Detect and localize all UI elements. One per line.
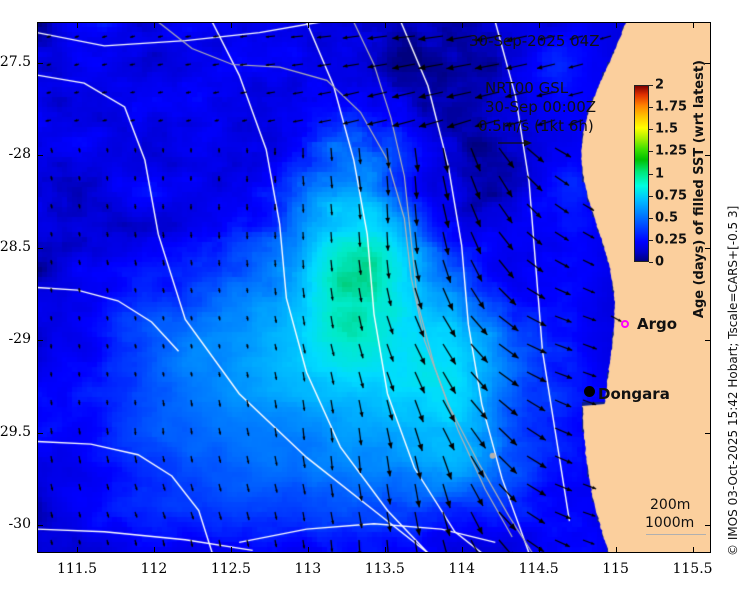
x-axis-label: 112.5 (196, 561, 266, 577)
colorbar-tick-label: 1.75 (655, 101, 687, 114)
argo-marker-icon (621, 320, 629, 328)
x-axis-tick (154, 22, 155, 28)
colorbar-tick-label: 0.75 (655, 189, 687, 202)
velocity-scale-label: 0.5m/s (1kt 6h) (478, 117, 594, 135)
date-label: 30-Sep-2025 04Z (469, 32, 600, 50)
y-axis-label: -28 (0, 146, 31, 162)
current-vector-layer (37, 22, 711, 553)
x-axis-label: 112 (119, 561, 189, 577)
x-axis-tick (231, 547, 232, 553)
argo-label: Argo (637, 315, 677, 333)
colorbar-tick (649, 174, 653, 175)
x-axis-tick (616, 22, 617, 28)
colorbar-tick (649, 196, 653, 197)
depth-contour-rule (646, 534, 706, 535)
colorbar-tick-label: 1 (655, 167, 664, 180)
colorbar: 21.751.51.2510.750.50.250 (634, 85, 649, 262)
colorbar-tick (649, 240, 653, 241)
x-axis-tick (693, 22, 694, 28)
y-axis-tick (37, 248, 43, 249)
y-axis-tick (37, 340, 43, 341)
colorbar-gradient (634, 85, 649, 262)
colorbar-tick (649, 262, 653, 263)
y-axis-tick (705, 525, 711, 526)
y-axis-tick (37, 433, 43, 434)
colorbar-title: Age (days) of filled SST (wrt latest) (692, 60, 707, 318)
y-axis-label: -27.5 (0, 54, 31, 70)
colorbar-tick-label: 0 (655, 256, 664, 269)
y-axis-tick (37, 155, 43, 156)
x-axis-tick (462, 22, 463, 28)
product-time-label: 30-Sep 00:00Z (485, 98, 596, 116)
x-axis-tick (77, 22, 78, 28)
x-axis-label: 113 (273, 561, 343, 577)
x-axis-label: 115.5 (658, 561, 728, 577)
x-axis-tick (77, 547, 78, 553)
x-axis-label: 111.5 (42, 561, 112, 577)
x-axis-tick (308, 547, 309, 553)
credit-text: © IMOS 03-Oct-2025 15:42 Hobart; Tscale=… (726, 206, 740, 556)
depth-contour-200m-label: 200m (650, 497, 690, 513)
x-axis-tick (539, 22, 540, 28)
x-axis-tick (308, 22, 309, 28)
y-axis-tick (705, 155, 711, 156)
colorbar-tick (649, 151, 653, 152)
colorbar-tick-label: 0.25 (655, 233, 687, 246)
colorbar-tick (649, 107, 653, 108)
x-axis-label: 114 (427, 561, 497, 577)
dongara-label: Dongara (598, 385, 670, 403)
y-axis-tick (37, 63, 43, 64)
x-axis-label: 113.5 (350, 561, 420, 577)
colorbar-tick-label: 2 (655, 79, 664, 92)
y-axis-tick (705, 248, 711, 249)
colorbar-tick-label: 0.5 (655, 211, 678, 224)
map-plot-area[interactable] (37, 22, 711, 553)
x-axis-tick (462, 547, 463, 553)
colorbar-tick (649, 218, 653, 219)
x-axis-tick (385, 547, 386, 553)
colorbar-tick (649, 85, 653, 86)
y-axis-label: -30 (0, 516, 31, 532)
x-axis-tick (154, 547, 155, 553)
y-axis-tick (705, 433, 711, 434)
product-name-label: NRT00 GSL (485, 79, 568, 97)
x-axis-tick (539, 547, 540, 553)
colorbar-tick-label: 1.5 (655, 123, 678, 136)
y-axis-tick (37, 525, 43, 526)
x-axis-tick (385, 22, 386, 28)
x-axis-tick (231, 22, 232, 28)
reference-arrow-icon (498, 138, 532, 148)
x-axis-label: 114.5 (504, 561, 574, 577)
y-axis-label: -28.5 (0, 239, 31, 255)
colorbar-tick-label: 1.25 (655, 145, 687, 158)
x-axis-label: 115 (581, 561, 651, 577)
x-axis-tick (693, 547, 694, 553)
y-axis-tick (705, 63, 711, 64)
y-axis-label: -29 (0, 331, 31, 347)
x-axis-tick (616, 547, 617, 553)
dongara-marker-icon (584, 386, 595, 397)
depth-contour-1000m-label: 1000m (645, 515, 694, 531)
y-axis-label: -29.5 (0, 424, 31, 440)
colorbar-tick (649, 129, 653, 130)
y-axis-tick (705, 340, 711, 341)
